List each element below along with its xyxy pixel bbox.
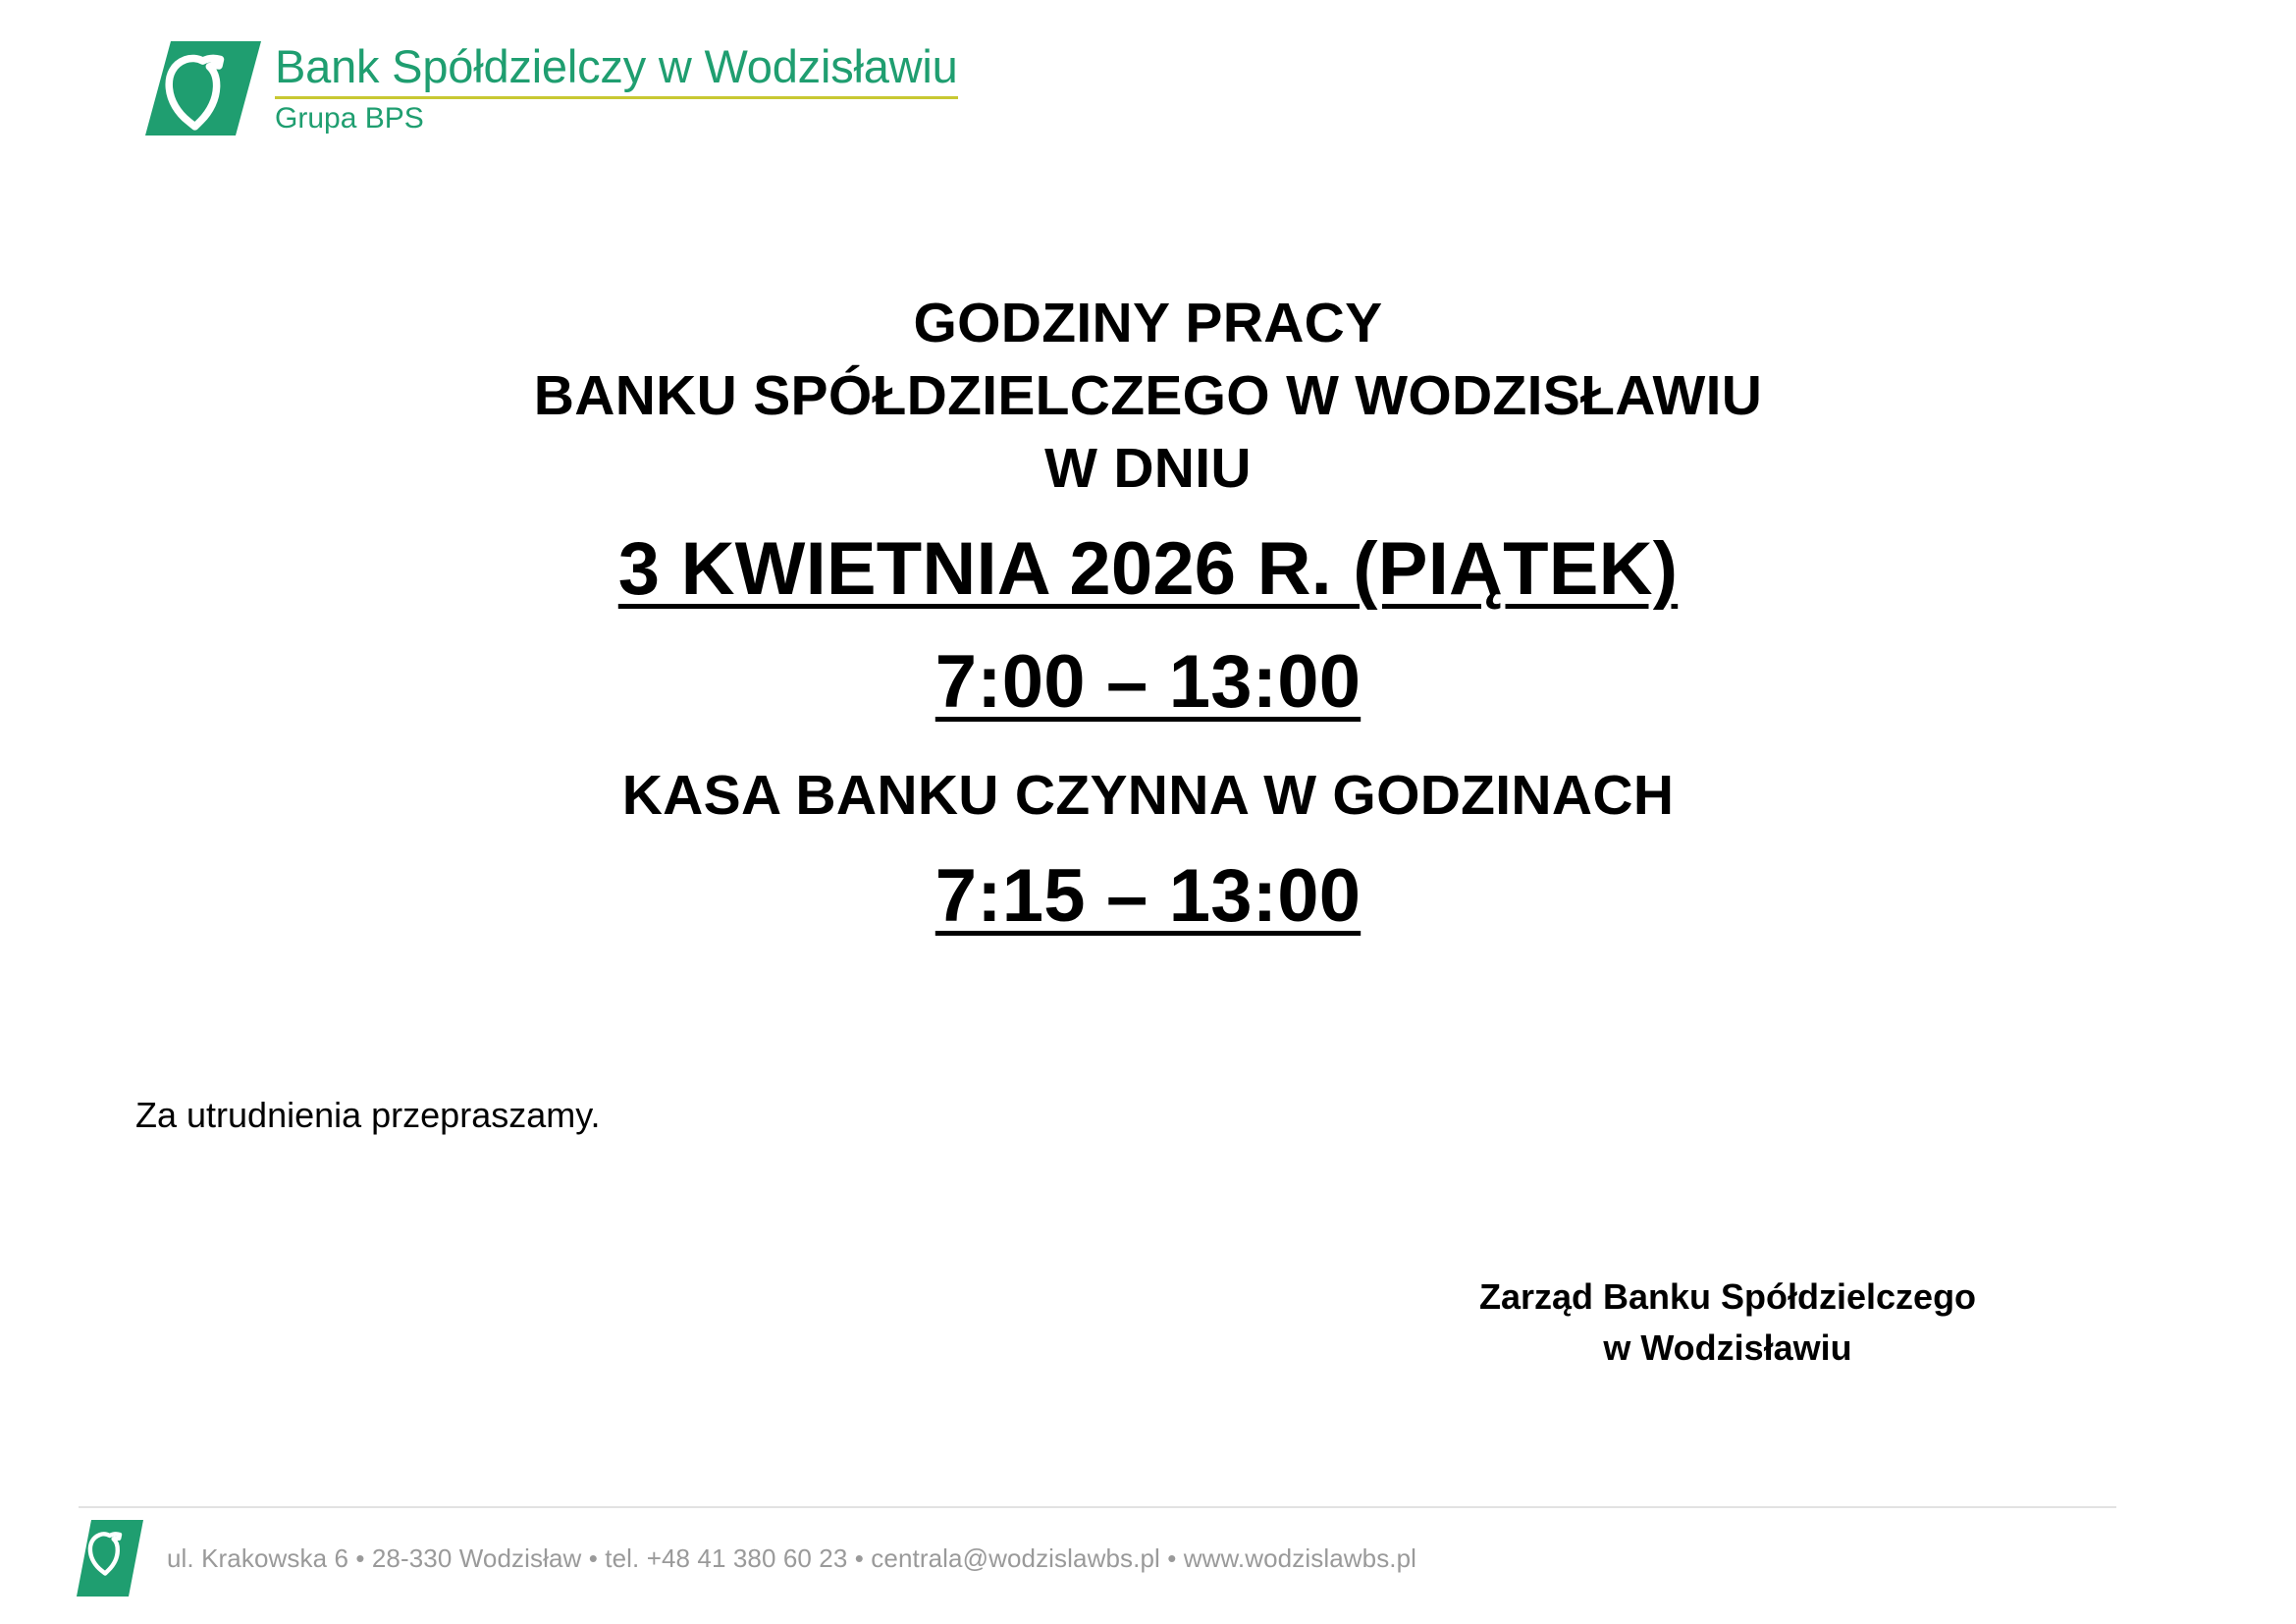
notice-cash-desk-hours-row: 7:15 – 13:00 <box>0 847 2296 946</box>
brand-subtitle: Grupa BPS <box>275 104 958 134</box>
bank-apple-logo-icon-small <box>77 1520 143 1597</box>
notice-cash-desk-hours: 7:15 – 13:00 <box>935 854 1361 938</box>
notice-bank-hours: 7:00 – 13:00 <box>935 640 1361 724</box>
brand-divider <box>275 96 958 99</box>
signature-line-1: Zarząd Banku Spółdzielczego <box>1463 1272 1993 1323</box>
heading-line-1: GODZINY PRACY <box>0 287 2296 359</box>
notice-heading: GODZINY PRACY BANKU SPÓŁDZIELCZEGO W WOD… <box>0 287 2296 505</box>
bank-apple-logo-icon <box>145 41 261 135</box>
signature-block: Zarząd Banku Spółdzielczego w Wodzisławi… <box>1463 1272 1993 1374</box>
brand-header: Bank Spółdzielczy w Wodzisławiu Grupa BP… <box>145 41 958 135</box>
apology-text: Za utrudnienia przepraszamy. <box>135 1093 601 1139</box>
footer-contact-info: ul. Krakowska 6 • 28-330 Wodzisław • tel… <box>167 1543 1416 1574</box>
notice-body: GODZINY PRACY BANKU SPÓŁDZIELCZEGO W WOD… <box>0 287 2296 946</box>
notice-cash-desk-label: KASA BANKU CZYNNA W GODZINACH <box>0 759 2296 832</box>
brand-wordmark: Bank Spółdzielczy w Wodzisławiu Grupa BP… <box>275 41 958 134</box>
notice-bank-hours-row: 7:00 – 13:00 <box>0 633 2296 731</box>
heading-line-3: W DNIU <box>0 432 2296 505</box>
footer: ul. Krakowska 6 • 28-330 Wodzisław • tel… <box>77 1520 1416 1597</box>
notice-date: 3 KWIETNIA 2026 R. (PIĄTEK) <box>618 527 1678 611</box>
heading-line-2: BANKU SPÓŁDZIELCZEGO W WODZISŁAWIU <box>0 359 2296 432</box>
signature-line-2: w Wodzisławiu <box>1463 1323 1993 1374</box>
brand-title: Bank Spółdzielczy w Wodzisławiu <box>275 43 958 89</box>
notice-date-row: 3 KWIETNIA 2026 R. (PIĄTEK) <box>0 520 2296 619</box>
footer-divider <box>79 1506 2116 1508</box>
